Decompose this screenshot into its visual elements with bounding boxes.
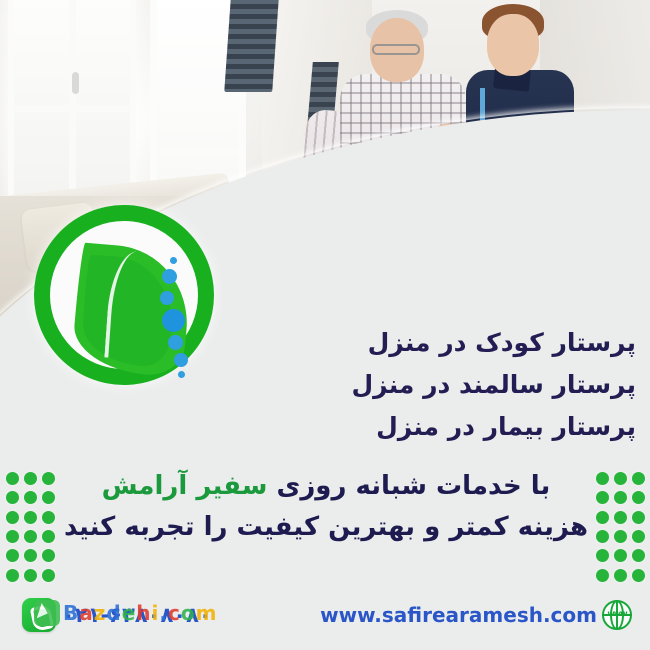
pattern-dot bbox=[24, 530, 37, 543]
globe-ellipse bbox=[610, 600, 624, 630]
pattern-dot bbox=[614, 569, 627, 582]
window-blind bbox=[224, 0, 280, 92]
pattern-dot bbox=[6, 569, 19, 582]
website-url[interactable]: www.safirearamesh.com bbox=[320, 603, 597, 627]
dot-pattern-right bbox=[594, 470, 646, 584]
pattern-dot bbox=[24, 549, 37, 562]
pattern-dot bbox=[596, 491, 609, 504]
pattern-dot bbox=[632, 530, 645, 543]
pattern-dot bbox=[632, 511, 645, 524]
dot-pattern-left bbox=[4, 470, 56, 584]
logo-dot bbox=[170, 257, 177, 264]
pattern-dot bbox=[6, 549, 19, 562]
service-item-child-nurse: پرستار کودک در منزل bbox=[166, 330, 636, 355]
pattern-dot bbox=[614, 511, 627, 524]
pattern-dot bbox=[42, 511, 55, 524]
pattern-dot bbox=[42, 549, 55, 562]
pattern-dot bbox=[596, 511, 609, 524]
eyeglasses-icon bbox=[372, 44, 420, 55]
banner-line-1: با خدمات شبانه روزی سفیر آرامش bbox=[60, 472, 592, 500]
pattern-dot bbox=[614, 530, 627, 543]
window-handle-icon bbox=[72, 72, 79, 94]
pattern-dot bbox=[42, 530, 55, 543]
pattern-dot bbox=[42, 472, 55, 485]
pattern-dot bbox=[596, 530, 609, 543]
service-item-patient-nurse: پرستار بیمار در منزل bbox=[166, 414, 636, 439]
footer-contact-bar: ۰۲۱-۶۳۸۰۸۰۸۰ www.safirearamesh.com www bbox=[0, 588, 650, 650]
phone-icon bbox=[22, 598, 56, 632]
phone-contact[interactable]: ۰۲۱-۶۳۸۰۸۰۸۰ bbox=[22, 598, 212, 632]
globe-www-label: www bbox=[604, 609, 630, 618]
caregiver-head bbox=[487, 14, 539, 76]
pattern-dot bbox=[614, 549, 627, 562]
pattern-dot bbox=[42, 491, 55, 504]
pattern-dot bbox=[632, 491, 645, 504]
promo-banner: با خدمات شبانه روزی سفیر آرامش هزینه کمت… bbox=[0, 466, 650, 586]
pattern-dot bbox=[596, 569, 609, 582]
phone-number[interactable]: ۰۲۱-۶۳۸۰۸۰۸۰ bbox=[62, 603, 212, 627]
pattern-dot bbox=[24, 511, 37, 524]
pattern-dot bbox=[6, 472, 19, 485]
pattern-dot bbox=[632, 549, 645, 562]
pattern-dot bbox=[6, 511, 19, 524]
website-contact[interactable]: www.safirearamesh.com www bbox=[320, 600, 632, 630]
pattern-dot bbox=[24, 491, 37, 504]
pattern-dot bbox=[632, 472, 645, 485]
service-item-elderly-nurse: پرستار سالمند در منزل bbox=[166, 372, 636, 397]
banner-text-block: با خدمات شبانه روزی سفیر آرامش هزینه کمت… bbox=[60, 472, 592, 541]
logo-dot bbox=[162, 269, 177, 284]
globe-icon: www bbox=[602, 600, 632, 630]
pattern-dot bbox=[614, 491, 627, 504]
poster-root: پرستار کودک در منزل پرستار سالمند در منز… bbox=[0, 0, 650, 650]
brand-name-highlight: سفیر آرامش bbox=[102, 471, 268, 501]
pattern-dot bbox=[596, 472, 609, 485]
pattern-dot bbox=[596, 549, 609, 562]
pattern-dot bbox=[632, 569, 645, 582]
pattern-dot bbox=[24, 569, 37, 582]
pattern-dot bbox=[614, 472, 627, 485]
logo-dot bbox=[162, 309, 185, 332]
pattern-dot bbox=[6, 530, 19, 543]
pattern-dot bbox=[42, 569, 55, 582]
service-list: پرستار کودک در منزل پرستار سالمند در منز… bbox=[166, 330, 636, 456]
logo-dot bbox=[160, 291, 174, 305]
pattern-dot bbox=[24, 472, 37, 485]
banner-line-1-prefix: با خدمات شبانه روزی bbox=[267, 471, 550, 501]
pattern-dot bbox=[6, 491, 19, 504]
banner-line-2: هزینه کمتر و بهترین کیفیت را تجربه کنید bbox=[60, 513, 592, 541]
